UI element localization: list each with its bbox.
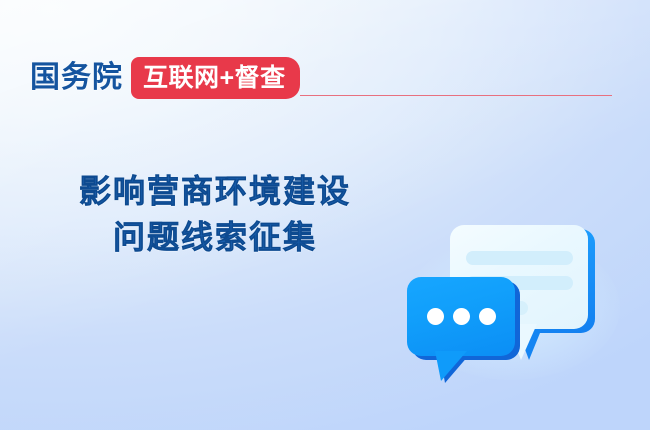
internet-supervision-badge: 互联网+督查 [131,57,300,99]
typing-dot-3-icon [479,308,496,325]
promo-banner: 国务院 互联网+督查 影响营商环境建设 问题线索征集 [0,0,650,430]
header-divider-rule [300,95,612,96]
typing-dots-icon [407,277,515,356]
banner-header: 国务院 互联网+督查 [30,57,300,99]
badge-label: 互联网+督查 [143,66,286,91]
typing-dot-2-icon [453,308,470,325]
chat-bubbles-illustration [395,205,630,400]
gov-council-label: 国务院 [30,63,123,93]
title-line-2: 问题线索征集 [0,214,430,260]
title-line-1: 影响营商环境建设 [0,168,430,214]
banner-title-block: 影响营商环境建设 问题线索征集 [0,168,430,260]
typing-dot-1-icon [427,308,444,325]
message-line-1-icon [466,251,573,265]
